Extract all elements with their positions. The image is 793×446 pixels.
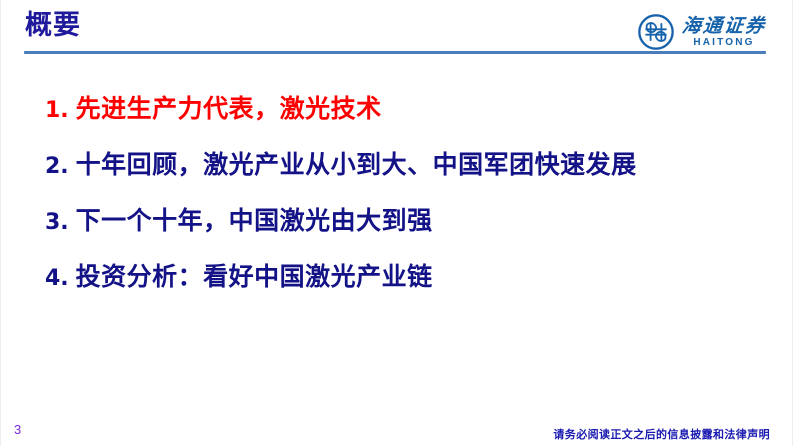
agenda-list: 1. 先进生产力代表，激光技术 2. 十年回顾，激光产业从小到大、中国军团快速发… [45, 93, 765, 317]
agenda-item-1-label: 先进生产力代表，激光技术 [76, 93, 382, 125]
footer-disclaimer: 请务必阅读正文之后的信息披露和法律声明 [553, 428, 770, 442]
logo-chinese-name: 海通证券 [681, 17, 767, 36]
agenda-item-2[interactable]: 2. 十年回顾，激光产业从小到大、中国军团快速发展 [45, 149, 765, 205]
agenda-item-4[interactable]: 4. 投资分析：看好中国激光产业链 [45, 261, 765, 317]
agenda-item-3-label: 下一个十年，中国激光由大到强 [76, 205, 433, 237]
page-title: 概要 [25, 9, 81, 43]
page-number: 3 [14, 422, 21, 438]
agenda-item-4-label: 投资分析：看好中国激光产业链 [76, 261, 433, 293]
agenda-item-2-label: 十年回顾，激光产业从小到大、中国军团快速发展 [76, 149, 637, 181]
haitong-logo: 海通证券 HAITONG [638, 14, 766, 50]
header-divider [24, 51, 766, 54]
agenda-item-2-number: 2. [45, 151, 76, 183]
logo-english-name: HAITONG [693, 38, 754, 48]
agenda-item-1[interactable]: 1. 先进生产力代表，激光技术 [45, 93, 765, 149]
presentation-slide: 概要 海通证券 HAITONG 1. 先进生产力代表，激光技术 2. [0, 0, 793, 446]
agenda-item-1-number: 1. [45, 95, 76, 127]
agenda-item-3-number: 3. [45, 207, 76, 239]
agenda-item-3[interactable]: 3. 下一个十年，中国激光由大到强 [45, 205, 765, 261]
agenda-item-4-number: 4. [45, 263, 76, 295]
logo-wordmark: 海通证券 HAITONG [682, 17, 766, 48]
haitong-circular-knot-emblem [638, 14, 674, 50]
